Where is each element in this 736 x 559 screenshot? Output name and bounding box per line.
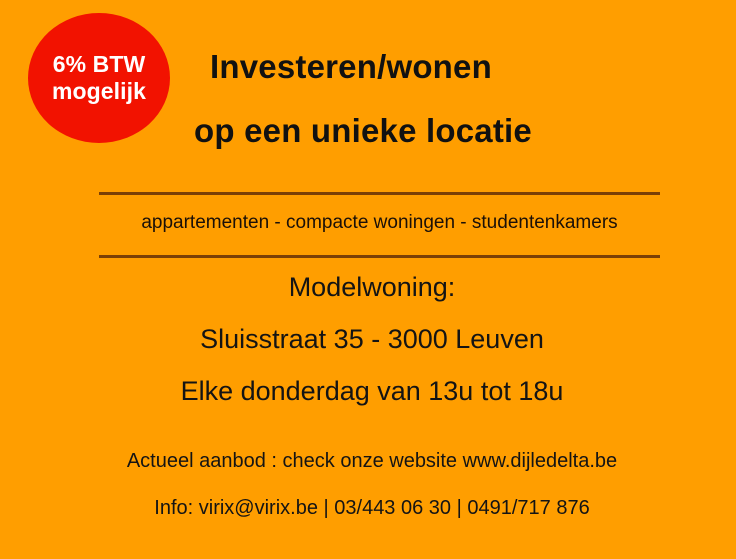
property-types-subtitle: appartementen - compacte woningen - stud… (99, 212, 660, 234)
showhome-info-block: Modelwoning: Sluisstraat 35 - 3000 Leuve… (68, 272, 676, 407)
contact-line: Info: virix@virix.be | 03/443 06 30 | 04… (48, 497, 696, 520)
headline: Investeren/wonen op een unieke locatie (186, 48, 706, 150)
divider-top (99, 192, 660, 195)
vat-badge: 6% BTW mogelijk (28, 13, 170, 143)
divider-bottom (99, 255, 660, 258)
website-line: Actueel aanbod : check onze website www.… (48, 450, 696, 473)
showhome-address: Sluisstraat 35 - 3000 Leuven (68, 324, 676, 355)
headline-line-2: op een unieke locatie (194, 112, 706, 150)
advertisement-poster: 6% BTW mogelijk Investeren/wonen op een … (0, 0, 736, 559)
showhome-label: Modelwoning: (68, 272, 676, 303)
vat-badge-line-1: 6% BTW (53, 51, 146, 78)
vat-badge-line-2: mogelijk (52, 78, 146, 105)
showhome-hours: Elke donderdag van 13u tot 18u (68, 376, 676, 407)
footer: Actueel aanbod : check onze website www.… (48, 450, 696, 520)
headline-line-1: Investeren/wonen (210, 48, 706, 86)
